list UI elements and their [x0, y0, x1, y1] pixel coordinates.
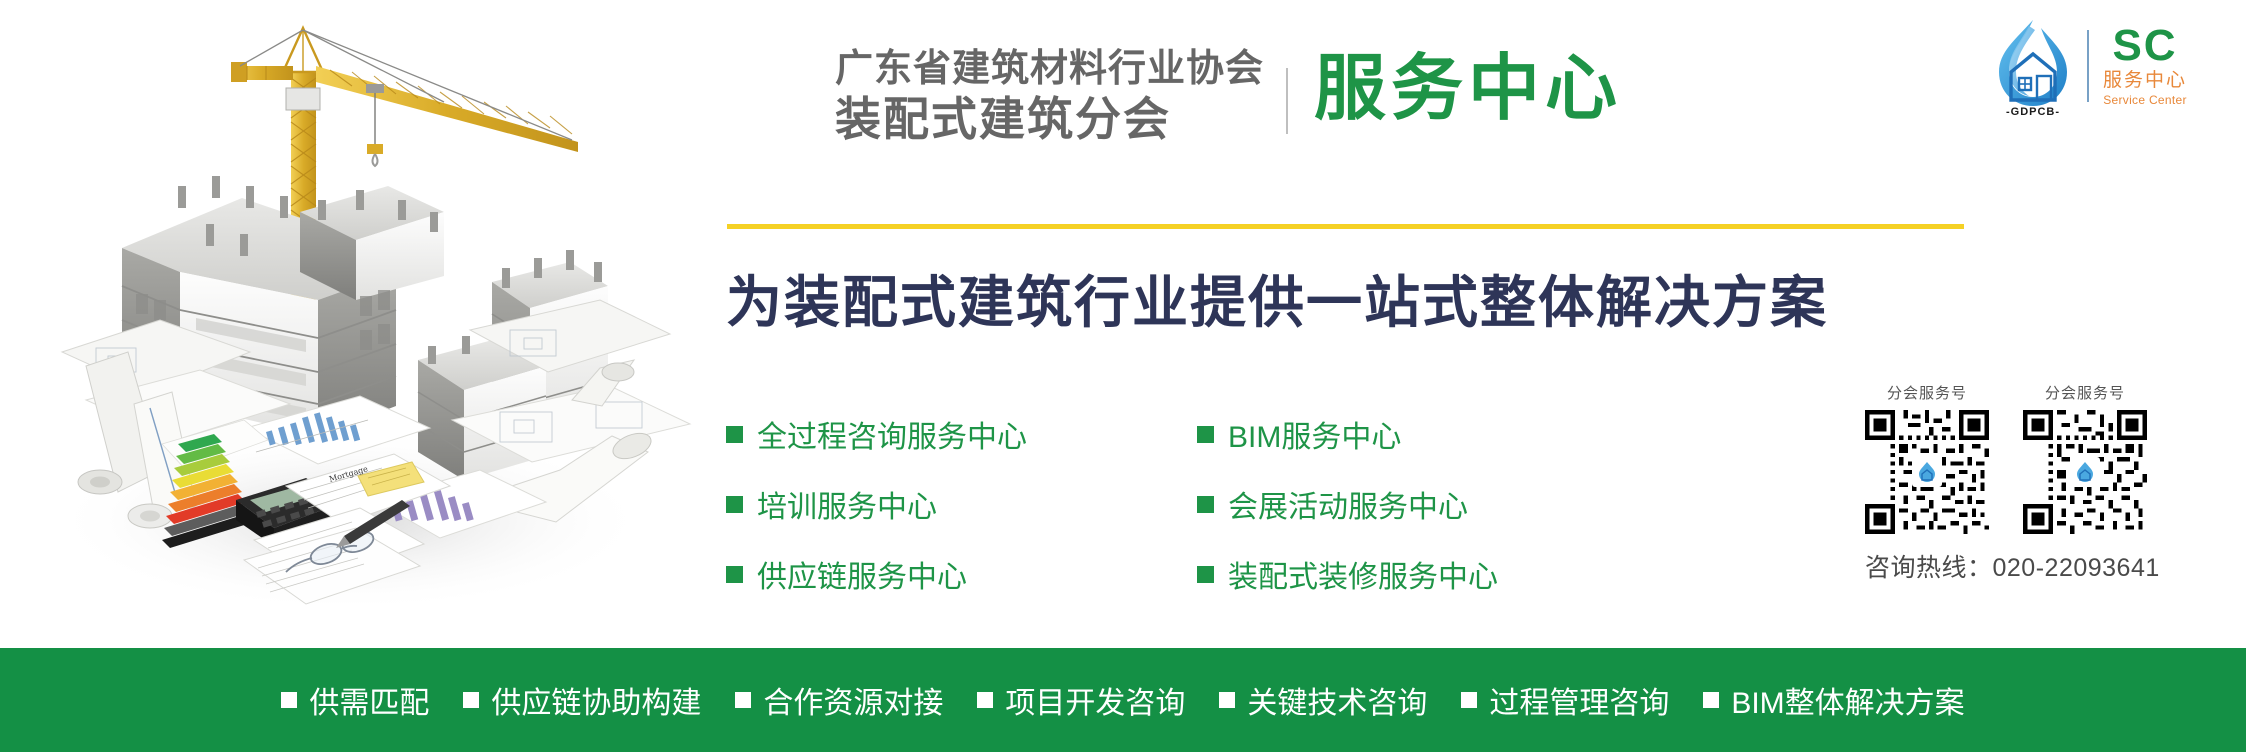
square-bullet-icon — [735, 692, 751, 708]
bottom-feature-item[interactable]: 关键技术咨询 — [1219, 678, 1427, 722]
bottom-feature-label: BIM整体解决方案 — [1731, 678, 1964, 722]
qr-code-row: 分会服务号 — [1865, 382, 2195, 534]
title-row: 广东省建筑材料行业协会 装配式建筑分会 服务中心 — [835, 46, 1622, 147]
bottom-feature-label: 供需匹配 — [309, 678, 429, 722]
square-bullet-icon — [1461, 692, 1477, 708]
logo-sc-text: SC — [2112, 25, 2177, 67]
square-bullet-icon — [977, 692, 993, 708]
square-bullet-icon — [726, 426, 743, 443]
bottom-feature-item[interactable]: 合作资源对接 — [735, 678, 943, 722]
title-divider — [1286, 68, 1288, 134]
qr-code-image[interactable] — [2023, 410, 2147, 534]
bottom-feature-list: 供需匹配 供应链协助构建 合作资源对接 项目开发咨询 关键技术咨询 过程管理咨询 — [281, 678, 1964, 722]
qr-embedded-logo-icon — [2070, 457, 2100, 487]
qr-embedded-logo-icon — [1912, 457, 1942, 487]
service-item-label: 培训服务中心 — [757, 482, 937, 526]
service-item-label: 全过程咨询服务中心 — [757, 412, 1027, 456]
service-item-label: 装配式装修服务中心 — [1228, 552, 1498, 596]
service-item[interactable]: 供应链服务中心 — [726, 552, 1027, 596]
service-item[interactable]: 装配式装修服务中心 — [1197, 552, 1498, 596]
qr-code-image[interactable] — [1865, 410, 1989, 534]
square-bullet-icon — [726, 566, 743, 583]
logo-wordmark: SC 服务中心 Service Center — [2103, 25, 2187, 107]
service-center-logo: -GDPCB- SC 服务中心 Service Center — [1985, 12, 2235, 120]
logo-divider — [2087, 30, 2089, 102]
service-column-left: 全过程咨询服务中心 培训服务中心 供应链服务中心 — [726, 412, 1027, 596]
service-column-right: BIM服务中心 会展活动服务中心 装配式装修服务中心 — [1197, 412, 1498, 596]
service-item[interactable]: 会展活动服务中心 — [1197, 482, 1498, 526]
bottom-feature-item[interactable]: 供应链协助构建 — [463, 678, 701, 722]
square-bullet-icon — [281, 692, 297, 708]
hotline-text: 咨询热线：020-22093641 — [1865, 548, 2195, 584]
promo-banner: Mortgage — [0, 0, 2246, 752]
bottom-feature-item[interactable]: 过程管理咨询 — [1461, 678, 1669, 722]
construction-site-illustration: Mortgage — [0, 0, 700, 648]
qr-cell: 分会服务号 — [1865, 382, 1989, 534]
bottom-feature-label: 关键技术咨询 — [1247, 678, 1427, 722]
square-bullet-icon — [1197, 496, 1214, 513]
square-bullet-icon — [463, 692, 479, 708]
qr-caption: 分会服务号 — [1887, 382, 1967, 403]
square-bullet-icon — [1197, 426, 1214, 443]
qr-contact-panel: 分会服务号 — [1865, 382, 2195, 584]
association-line-2: 装配式建筑分会 — [835, 92, 1264, 146]
service-item-label: 会展活动服务中心 — [1228, 482, 1468, 526]
bottom-feature-item[interactable]: 项目开发咨询 — [977, 678, 1185, 722]
logo-english-text: Service Center — [2103, 93, 2187, 107]
bottom-feature-item[interactable]: BIM整体解决方案 — [1703, 678, 1964, 722]
bottom-feature-label: 合作资源对接 — [763, 678, 943, 722]
bottom-feature-bar: 供需匹配 供应链协助构建 合作资源对接 项目开发咨询 关键技术咨询 过程管理咨询 — [0, 648, 2246, 752]
qr-caption: 分会服务号 — [2045, 382, 2125, 403]
service-item[interactable]: 培训服务中心 — [726, 482, 1027, 526]
logo-chinese-text: 服务中心 — [2103, 69, 2187, 93]
service-list: 全过程咨询服务中心 培训服务中心 供应链服务中心 BIM服务中心 会展活动服务中… — [726, 412, 1498, 596]
gdpcb-house-flame-icon: -GDPCB- — [1985, 14, 2081, 118]
bottom-feature-label: 过程管理咨询 — [1489, 678, 1669, 722]
square-bullet-icon — [1219, 692, 1235, 708]
bottom-feature-item[interactable]: 供需匹配 — [281, 678, 429, 722]
square-bullet-icon — [1197, 566, 1214, 583]
bottom-feature-label: 供应链协助构建 — [491, 678, 701, 722]
yellow-divider-rule — [727, 224, 1964, 229]
bottom-feature-label: 项目开发咨询 — [1005, 678, 1185, 722]
square-bullet-icon — [1703, 692, 1719, 708]
service-item[interactable]: 全过程咨询服务中心 — [726, 412, 1027, 456]
association-line-1: 广东省建筑材料行业协会 — [835, 46, 1264, 92]
association-name: 广东省建筑材料行业协会 装配式建筑分会 — [835, 46, 1264, 147]
square-bullet-icon — [726, 496, 743, 513]
service-item-label: 供应链服务中心 — [757, 552, 967, 596]
svg-text:-GDPCB-: -GDPCB- — [2006, 106, 2060, 118]
service-center-title: 服务中心 — [1314, 52, 1622, 128]
service-item-label: BIM服务中心 — [1228, 412, 1401, 456]
qr-cell: 分会服务号 — [2023, 382, 2147, 534]
page-headline: 为装配式建筑行业提供一站式整体解决方案 — [726, 258, 1828, 339]
service-item[interactable]: BIM服务中心 — [1197, 412, 1498, 456]
